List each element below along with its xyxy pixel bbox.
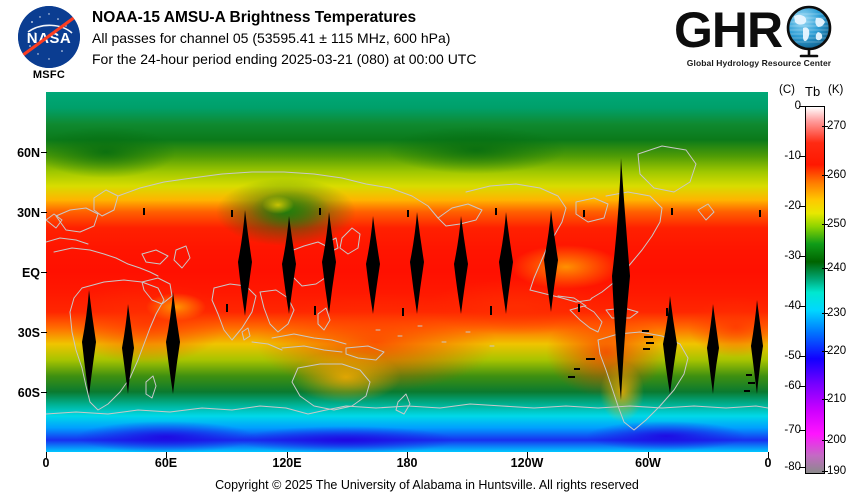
colorbar-k-tick-240 (822, 268, 828, 269)
colorbar-k-tick-210 (822, 399, 828, 400)
colorbar-k-label-210: 210 (827, 393, 854, 405)
colorbar-title-tb: Tb (805, 84, 820, 99)
x-tick-label-180: 180 (377, 456, 437, 470)
x-tick-label-120e: 120E (257, 456, 317, 470)
colorbar-k-label-230: 230 (827, 307, 854, 319)
colorbar-c-tick-m30 (799, 256, 806, 257)
y-tick-label-30n: 30N (0, 206, 40, 220)
svg-text:NASA: NASA (27, 30, 72, 47)
colorbar-c-label-m50: -50 (775, 350, 801, 362)
colorbar-k-tick-200 (822, 440, 828, 441)
colorbar-k-label-260: 260 (827, 169, 854, 181)
ghrc-logo: GHR Global Hydrology Resource Center (672, 4, 840, 76)
x-tick-label-0: 0 (16, 456, 76, 470)
x-tick-label-120w: 120W (497, 456, 557, 470)
colorbar-c-tick-m70 (799, 430, 806, 431)
colorbar-c-tick-m10 (799, 156, 806, 157)
colorbar-unit-kelvin: (K) (828, 84, 843, 96)
x-tick-label-60e: 60E (136, 456, 196, 470)
colorbar-k-label-250: 250 (827, 218, 854, 230)
y-tick-label-60s: 60S (0, 386, 40, 400)
y-tick-mark-30n (41, 212, 47, 213)
colorbar-gradient (806, 107, 824, 473)
ghrc-wordmark-svg: GHR (672, 4, 840, 62)
colorbar-c-tick-m80 (799, 467, 806, 468)
colorbar-k-label-240: 240 (827, 262, 854, 274)
y-tick-mark-eq (41, 272, 47, 273)
colorbar-c-label-m30: -30 (775, 250, 801, 262)
colorbar-k-label-270: 270 (827, 120, 854, 132)
colorbar-k-tick-270 (822, 126, 828, 127)
colorbar-k-tick-230 (822, 313, 828, 314)
colorbar-c-label-m20: -20 (775, 200, 801, 212)
x-tick-label-60w: 60W (618, 456, 678, 470)
title-block: NOAA-15 AMSU-A Brightness Temperatures A… (92, 8, 672, 70)
colorbar-unit-celsius: (C) (779, 84, 795, 96)
svg-text:GHR: GHR (674, 4, 783, 58)
colorbar-c-tick-m40 (799, 306, 806, 307)
colorbar-c-label-m40: -40 (775, 300, 801, 312)
colorbar-k-label-200: 200 (827, 434, 854, 446)
colorbar-k-label-220: 220 (827, 345, 854, 357)
map-canvas (46, 92, 768, 452)
colorbar-k-label-190: 190 (827, 465, 854, 477)
colorbar-c-tick-0 (799, 106, 806, 107)
temperature-colorbar[interactable] (805, 106, 825, 474)
copyright-notice: Copyright © 2025 The University of Alaba… (0, 478, 854, 492)
y-tick-label-60n: 60N (0, 146, 40, 160)
nasa-insignia-svg: NASA (18, 6, 80, 68)
nasa-meatball-icon: NASA (18, 6, 80, 68)
colorbar-k-tick-260 (822, 175, 828, 176)
period-subtitle: For the 24-hour period ending 2025-03-21… (92, 49, 672, 70)
channel-subtitle: All passes for channel 05 (53595.41 ± 11… (92, 28, 672, 49)
nasa-center-label: MSFC (14, 69, 84, 81)
page-title: NOAA-15 AMSU-A Brightness Temperatures (92, 8, 672, 28)
y-tick-mark-30s (41, 332, 47, 333)
ghrc-tagline: Global Hydrology Resource Center (678, 58, 840, 68)
colorbar-c-label-m60: -60 (775, 380, 801, 392)
colorbar-k-tick-250 (822, 224, 828, 225)
colorbar-c-tick-m60 (799, 386, 806, 387)
colorbar-k-tick-190 (822, 471, 828, 472)
y-tick-label-eq: EQ (0, 266, 40, 280)
colorbar-k-tick-220 (822, 351, 828, 352)
colorbar-c-label-m80: -80 (775, 461, 801, 473)
colorbar-c-label-m70: -70 (775, 424, 801, 436)
nasa-msfc-logo: NASA MSFC (14, 6, 86, 84)
colorbar-c-tick-m50 (799, 356, 806, 357)
y-tick-label-30s: 30S (0, 326, 40, 340)
y-tick-mark-60n (41, 152, 47, 153)
colorbar-c-tick-m20 (799, 206, 806, 207)
colorbar-c-label-0: 0 (775, 100, 801, 112)
brightness-temperature-map[interactable] (46, 92, 768, 452)
colorbar-c-label-m10: -10 (775, 150, 801, 162)
y-tick-mark-60s (41, 392, 47, 393)
